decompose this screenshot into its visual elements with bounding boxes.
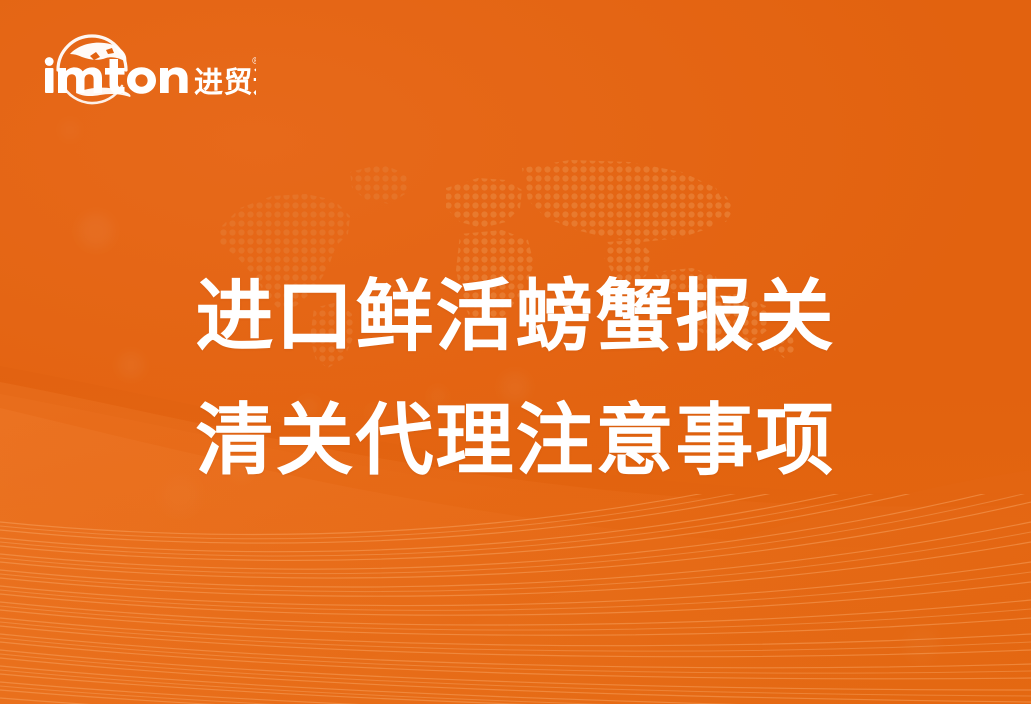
title-line-1: 进口鲜活螃蟹报关 xyxy=(0,255,1031,379)
title-line-2: 清关代理注意事项 xyxy=(0,379,1031,503)
registered-mark-icon: ® xyxy=(251,56,256,67)
poster-canvas: 进贸通 ® imton 进贸通 进口鲜活螃蟹报关 清关代理注意事项 xyxy=(0,0,1031,704)
logo-wordmark-latin xyxy=(45,57,188,94)
brand-logo[interactable]: 进贸通 ® imton 进贸通 xyxy=(36,24,256,108)
page-title: 进口鲜活螃蟹报关 清关代理注意事项 xyxy=(0,255,1031,503)
logo-wordmark-chinese: 进贸通 xyxy=(194,65,256,99)
curved-line-fan xyxy=(0,494,1031,704)
